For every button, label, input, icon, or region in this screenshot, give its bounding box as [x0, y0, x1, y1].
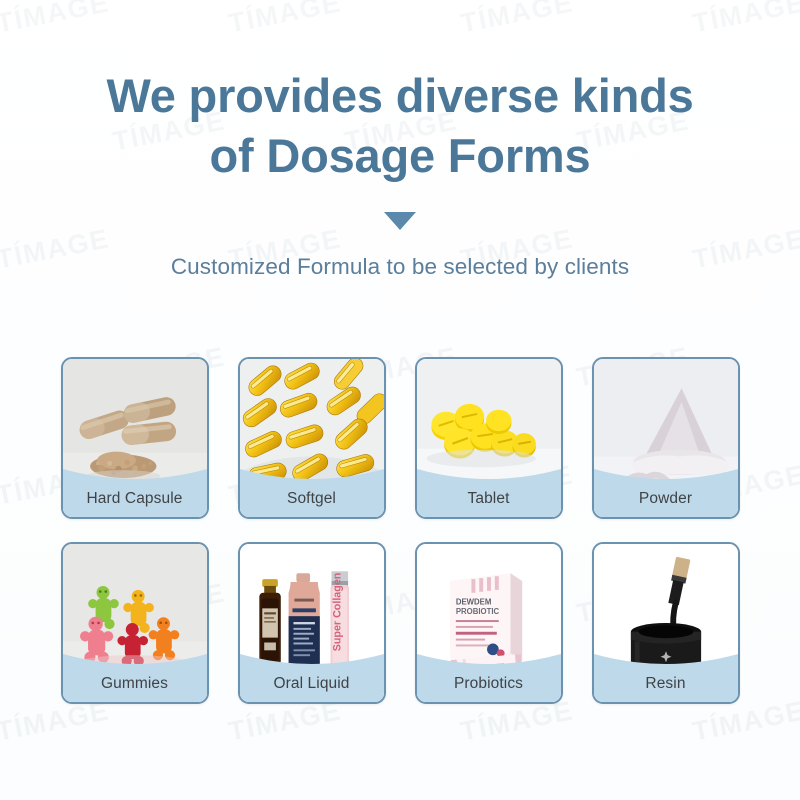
arrow-wrap [0, 212, 800, 230]
card-label-text: Powder [594, 481, 738, 517]
dosage-form-grid: Hard Capsule [0, 357, 800, 704]
dosage-form-card-oral-liquid[interactable]: Super Collagen Oral Liquid [238, 542, 386, 704]
card-label-text: Softgel [240, 481, 384, 517]
svg-text:PROBIOTIC: PROBIOTIC [455, 607, 499, 616]
dosage-form-row: Gummies [61, 542, 740, 704]
card-label-band: Powder [594, 469, 738, 517]
card-label-text: Tablet [417, 481, 561, 517]
card-label-band: Tablet [417, 469, 561, 517]
page-title: We provides diverse kinds of Dosage Form… [0, 66, 800, 186]
page-title-line-2: of Dosage Forms [70, 126, 730, 186]
dosage-form-card-hard-capsule[interactable]: Hard Capsule [61, 357, 209, 519]
card-label-band: Hard Capsule [63, 469, 207, 517]
card-label-band: Softgel [240, 469, 384, 517]
dosage-form-card-gummies[interactable]: Gummies [61, 542, 209, 704]
card-label-text: Resin [594, 666, 738, 702]
triangle-down-icon [384, 212, 416, 230]
dosage-form-card-tablet[interactable]: Tablet [415, 357, 563, 519]
dosage-form-card-powder[interactable]: Powder [592, 357, 740, 519]
card-label-band: Probiotics [417, 654, 561, 702]
svg-text:Super Collagen: Super Collagen [331, 573, 343, 652]
card-label-band: Oral Liquid [240, 654, 384, 702]
dosage-form-card-probiotics[interactable]: DEWDEM PROBIOTIC Prob [415, 542, 563, 704]
dosage-form-row: Hard Capsule [61, 357, 740, 519]
page-header: We provides diverse kinds of Dosage Form… [0, 0, 800, 280]
page-subtitle: Customized Formula to be selected by cli… [0, 254, 800, 280]
dosage-form-card-resin[interactable]: BEAUTY BAR Resin [592, 542, 740, 704]
card-label-band: Resin [594, 654, 738, 702]
card-label-text: Probiotics [417, 666, 561, 702]
svg-text:DEWDEM: DEWDEM [455, 597, 491, 606]
card-label-text: Oral Liquid [240, 666, 384, 702]
card-label-text: Gummies [63, 666, 207, 702]
card-label-band: Gummies [63, 654, 207, 702]
dosage-forms-page: TÍMAGETÍMAGETÍMAGETÍMAGETÍMAGETÍMAGETÍMA… [0, 0, 800, 800]
card-label-text: Hard Capsule [63, 481, 207, 517]
page-title-line-1: We provides diverse kinds [70, 66, 730, 126]
dosage-form-card-softgel[interactable]: Softgel [238, 357, 386, 519]
